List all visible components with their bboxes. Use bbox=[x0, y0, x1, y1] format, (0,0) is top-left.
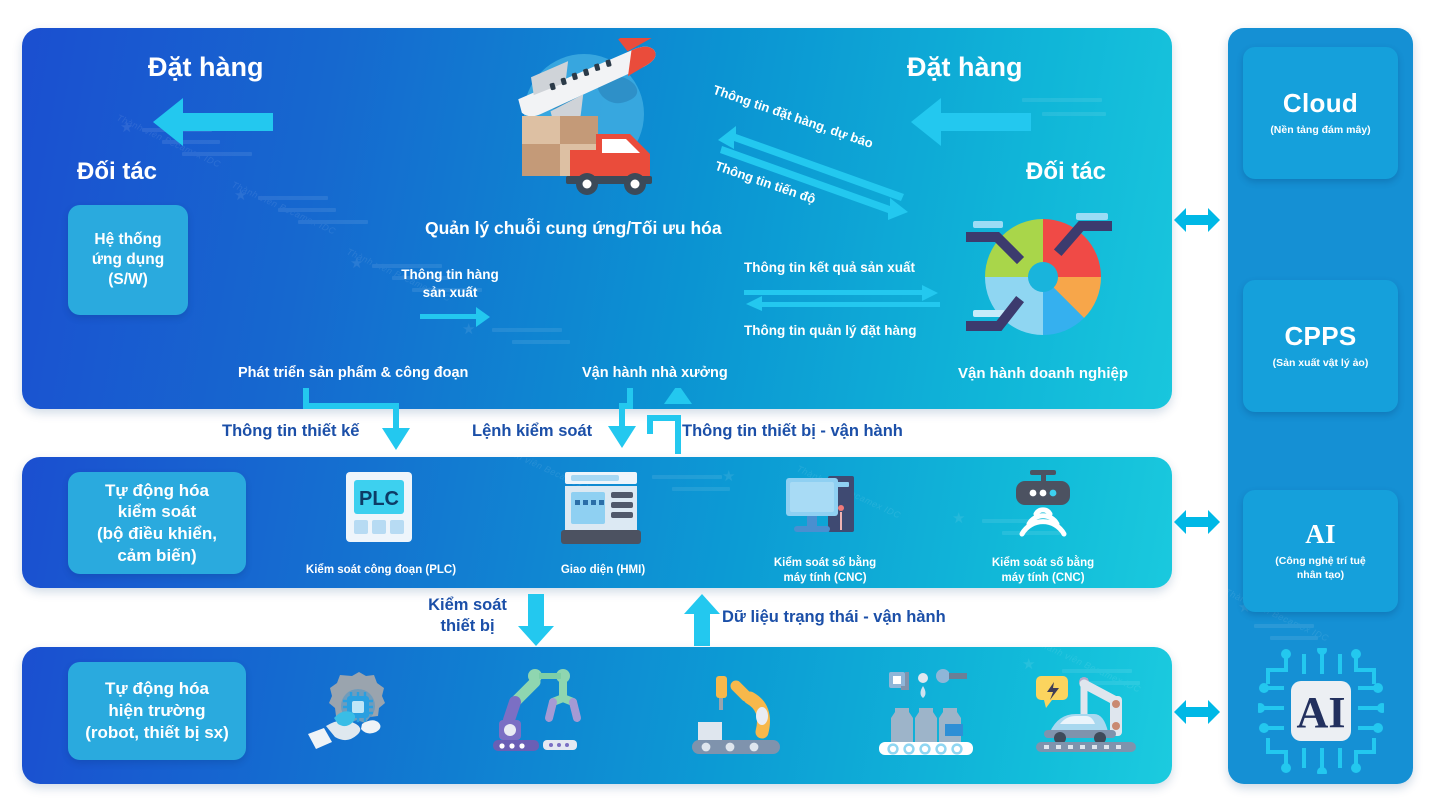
card-line: (robot, thiết bị sx) bbox=[85, 722, 229, 744]
subtitle-line: nhân tạo) bbox=[1275, 569, 1365, 583]
diagram-canvas: Thành viên Becamex IDC Thành viên Became… bbox=[0, 0, 1431, 807]
cnc-computer-caption: Kiểm soát số bằng máy tính (CNC) bbox=[740, 556, 910, 585]
bidirectional-arrow-icon bbox=[1174, 203, 1220, 237]
tech-card-ai[interactable]: AI (Công nghệ trí tuệ nhân tạo) bbox=[1243, 490, 1398, 612]
up-arrow-icon bbox=[682, 594, 722, 648]
watermark-star-icon: ★ bbox=[120, 118, 133, 136]
control-automation-card[interactable]: Tự động hóa kiểm soát (bộ điều khiển, cả… bbox=[68, 472, 246, 574]
control-command-label: Lệnh kiểm soát bbox=[472, 422, 592, 441]
flow-label-order-mgmt: Thông tin quản lý đặt hàng bbox=[744, 322, 916, 340]
left-arrow-icon bbox=[903, 96, 1033, 148]
card-line: hiện trường bbox=[85, 700, 229, 722]
device-operation-info-label: Thông tin thiết bị - vận hành bbox=[682, 422, 903, 441]
plc-device-icon: PLC bbox=[340, 470, 424, 548]
caption-text: Kiểm soát số bằng máy tính (CNC) bbox=[740, 556, 910, 585]
car-assembly-robot-icon bbox=[1030, 668, 1146, 758]
ai-chip-icon: AI bbox=[1258, 648, 1384, 774]
flow-label-production-goods: Thông tin hàng sản xuất bbox=[390, 266, 510, 301]
watermark-star-icon: ★ bbox=[350, 254, 363, 272]
design-info-label: Thông tin thiết kế bbox=[222, 422, 360, 441]
cloud-subtitle: (Nền tảng đám mây) bbox=[1270, 124, 1370, 138]
conveyor-robot-arm-icon bbox=[688, 672, 792, 760]
watermark-star-icon: ★ bbox=[234, 186, 247, 204]
supply-chain-label: Quản lý chuỗi cung ứng/Tối ưu hóa bbox=[425, 218, 722, 239]
cnc-sensor-caption: Kiểm soát số bằng máy tính (CNC) bbox=[958, 556, 1128, 585]
robot-arm-gripper-icon bbox=[485, 668, 585, 758]
watermark-star-icon: ★ bbox=[722, 467, 735, 485]
flow-label-line: Thông tin hàng bbox=[390, 266, 510, 284]
down-arrow-icon bbox=[516, 594, 556, 648]
label-line: Kiểm soát bbox=[415, 595, 520, 616]
card-line: ứng dụng bbox=[92, 250, 164, 270]
card-line: (bộ điều khiển, bbox=[97, 523, 217, 545]
enterprise-analytics-icon bbox=[955, 195, 1130, 355]
card-line: (S/W) bbox=[92, 270, 164, 290]
cloud-title: Cloud bbox=[1283, 88, 1358, 119]
card-line: Tự động hóa bbox=[97, 480, 217, 502]
partner-label-left: Đối tác bbox=[77, 158, 157, 186]
field-automation-card[interactable]: Tự động hóa hiện trường (robot, thiết bị… bbox=[68, 662, 246, 760]
cpps-title: CPPS bbox=[1284, 321, 1356, 352]
order-label-left: Đặt hàng bbox=[148, 52, 264, 83]
device-control-label: Kiểm soát thiết bị bbox=[415, 595, 520, 636]
partner-label-right: Đối tác bbox=[1026, 158, 1106, 186]
ai-title: AI bbox=[1305, 519, 1336, 550]
state-operation-data-label: Dữ liệu trạng thái - vận hành bbox=[722, 608, 946, 627]
card-line: kiểm soát bbox=[97, 501, 217, 523]
subtitle-line: (Công nghệ trí tuệ bbox=[1275, 555, 1365, 569]
svg-text:PLC: PLC bbox=[359, 488, 399, 510]
cpps-subtitle: (Sản xuất vật lý ảo) bbox=[1273, 357, 1369, 371]
bottling-line-icon bbox=[875, 668, 981, 760]
watermark-star-icon: ★ bbox=[952, 509, 965, 527]
application-system-card[interactable]: Hệ thống ứng dụng (S/W) bbox=[68, 205, 188, 315]
order-label-right: Đặt hàng bbox=[907, 52, 1023, 83]
flow-label-line: sản xuất bbox=[390, 284, 510, 302]
card-line: cảm biến) bbox=[97, 545, 217, 567]
plc-caption: Kiểm soát công đoạn (PLC) bbox=[296, 563, 466, 578]
factory-ops-label: Vận hành nhà xưởng bbox=[582, 365, 728, 381]
product-dev-label: Phát triển sản phẩm & công đoạn bbox=[238, 365, 468, 381]
hmi-panel-icon bbox=[559, 470, 645, 548]
enterprise-ops-label: Vận hành doanh nghiệp bbox=[958, 365, 1128, 382]
tech-card-cloud[interactable]: Cloud (Nền tảng đám mây) bbox=[1243, 47, 1398, 179]
right-arrow-icon bbox=[420, 305, 492, 329]
bidirectional-arrow-icon bbox=[1174, 695, 1220, 729]
watermark-text: Thành viên Becamex IDC bbox=[230, 179, 337, 236]
label-line: thiết bị bbox=[415, 616, 520, 637]
supply-chain-logistics-icon bbox=[488, 38, 703, 218]
cnc-computer-icon bbox=[782, 468, 866, 548]
left-arrow-icon bbox=[145, 96, 275, 148]
card-line: Hệ thống bbox=[92, 230, 164, 250]
flow-label-production-result: Thông tin kết quả sản xuất bbox=[744, 259, 915, 277]
exchange-arrows-horizontal bbox=[744, 285, 940, 311]
tech-card-cpps[interactable]: CPPS (Sản xuất vật lý ảo) bbox=[1243, 280, 1398, 412]
wireless-sensor-icon bbox=[1000, 468, 1086, 548]
chip-hand-gear-icon bbox=[300, 672, 400, 758]
card-line: Tự động hóa bbox=[85, 678, 229, 700]
caption-text: Kiểm soát số bằng máy tính (CNC) bbox=[958, 556, 1128, 585]
bidirectional-arrow-icon bbox=[1174, 505, 1220, 539]
ai-subtitle: (Công nghệ trí tuệ nhân tạo) bbox=[1275, 555, 1365, 582]
hmi-caption: Giao diện (HMI) bbox=[518, 563, 688, 578]
ai-chip-label: AI bbox=[1297, 688, 1346, 737]
